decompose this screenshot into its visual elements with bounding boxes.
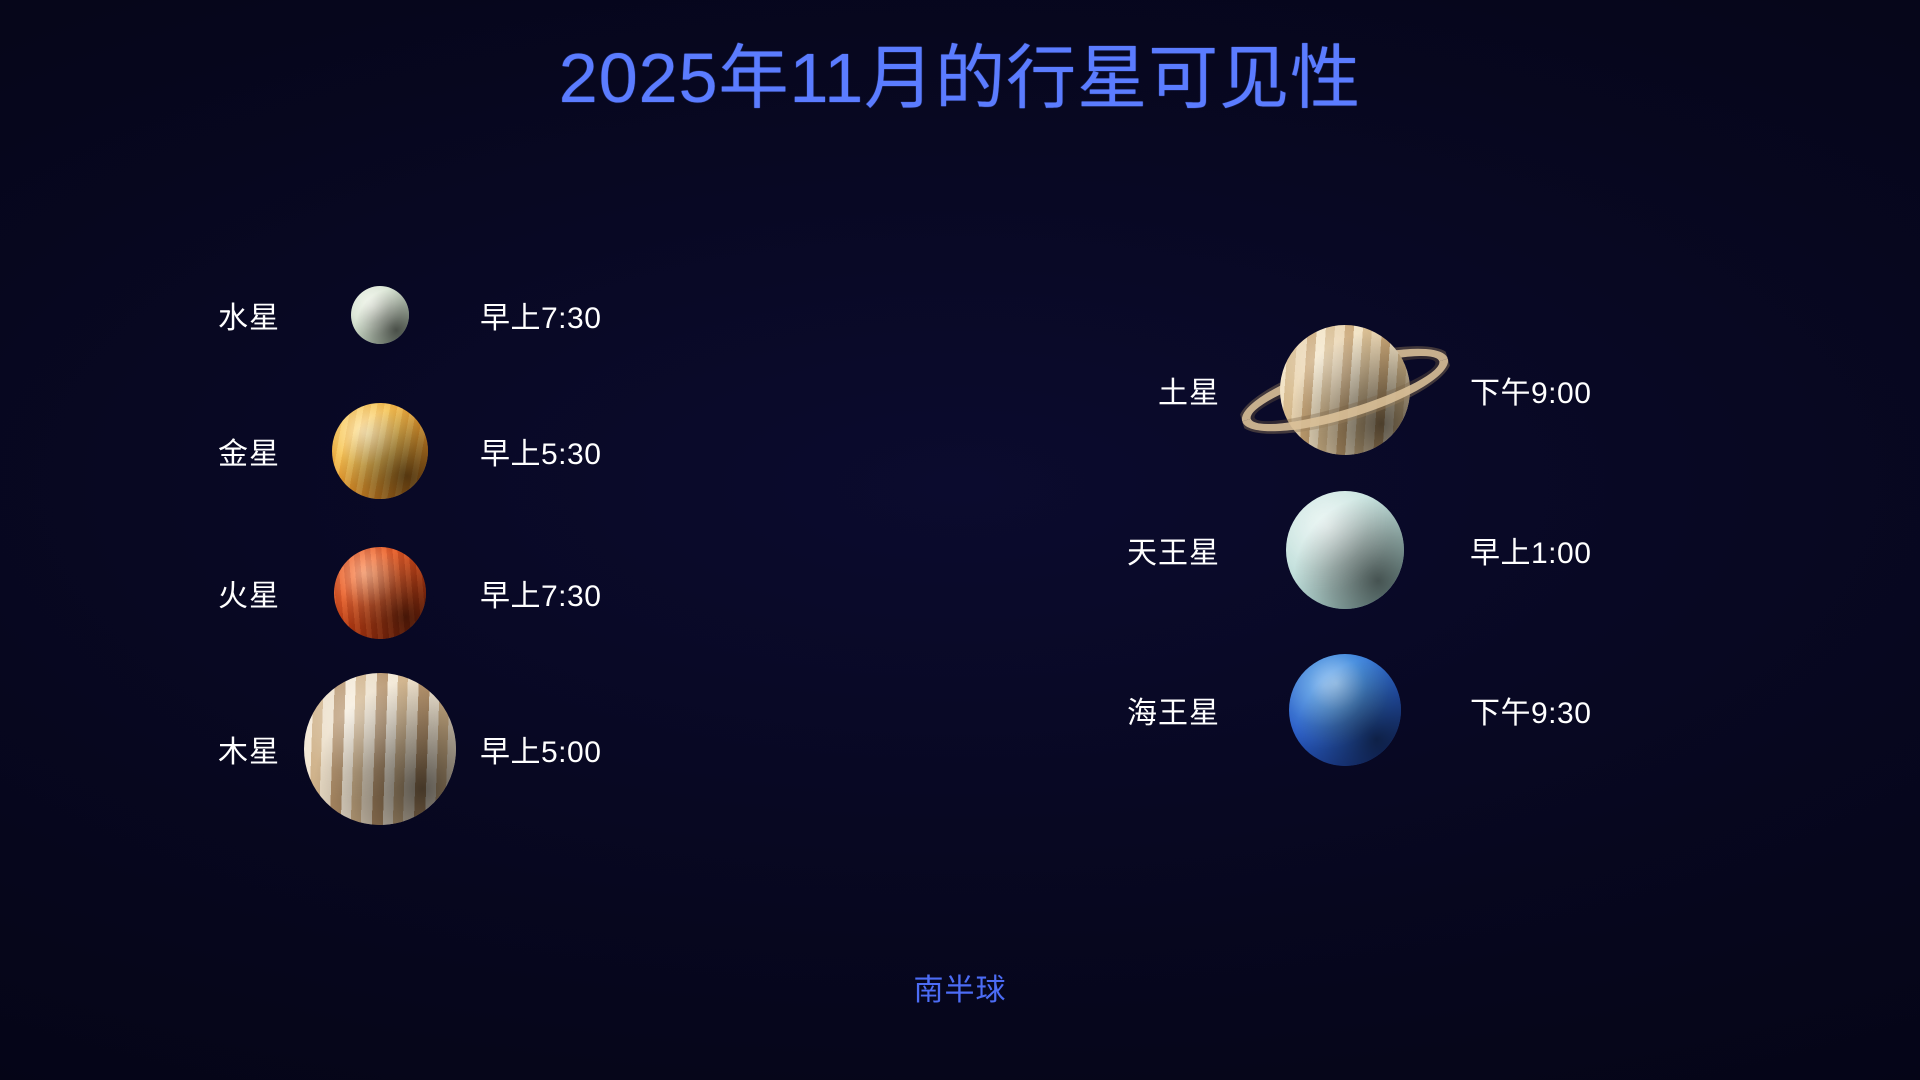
planet-uranus-icon xyxy=(1220,470,1470,630)
planet-name-neptune: 海王星 xyxy=(1060,688,1220,732)
planet-time-saturn: 下午9:00 xyxy=(1470,368,1690,412)
planet-name-venus: 金星 xyxy=(95,429,280,473)
page-title: 2025年11月的行星可见性 xyxy=(0,38,1920,119)
planet-row-neptune[interactable]: 海王星 下午9:30 xyxy=(1060,630,1760,790)
planet-row-saturn[interactable]: 土星 下午9:00 xyxy=(1060,310,1760,470)
hemisphere-label: 南半球 xyxy=(0,965,1920,1009)
planet-venus-icon xyxy=(280,380,480,522)
planet-mercury-icon xyxy=(280,250,480,380)
planet-column-right: 土星 下午9:00 天王星 早上1:00 海王星 下午 xyxy=(1060,310,1760,790)
planet-mars-icon xyxy=(280,522,480,664)
planet-column-left: 水星 早上7:30 金星 早上5:30 火星 早上7:30 木星 xyxy=(95,250,795,834)
planet-row-mars[interactable]: 火星 早上7:30 xyxy=(95,522,795,664)
planet-time-mercury: 早上7:30 xyxy=(480,293,700,337)
planet-time-jupiter: 早上5:00 xyxy=(480,727,700,771)
planet-saturn-icon xyxy=(1220,310,1470,470)
planet-name-mars: 火星 xyxy=(95,571,280,615)
planet-time-mars: 早上7:30 xyxy=(480,571,700,615)
space-background: 2025年11月的行星可见性 水星 早上7:30 金星 早上5:30 火星 早上… xyxy=(0,0,1920,1080)
planet-name-saturn: 土星 xyxy=(1060,368,1220,412)
planet-name-uranus: 天王星 xyxy=(1060,528,1220,572)
planet-time-neptune: 下午9:30 xyxy=(1470,688,1690,732)
planet-neptune-icon xyxy=(1220,630,1470,790)
planet-name-mercury: 水星 xyxy=(95,293,280,337)
planet-name-jupiter: 木星 xyxy=(95,727,280,771)
planet-row-venus[interactable]: 金星 早上5:30 xyxy=(95,380,795,522)
planet-time-venus: 早上5:30 xyxy=(480,429,700,473)
planet-row-uranus[interactable]: 天王星 早上1:00 xyxy=(1060,470,1760,630)
planet-row-mercury[interactable]: 水星 早上7:30 xyxy=(95,250,795,380)
planet-row-jupiter[interactable]: 木星 早上5:00 xyxy=(95,664,795,834)
planet-time-uranus: 早上1:00 xyxy=(1470,528,1690,572)
planet-jupiter-icon xyxy=(280,664,480,834)
